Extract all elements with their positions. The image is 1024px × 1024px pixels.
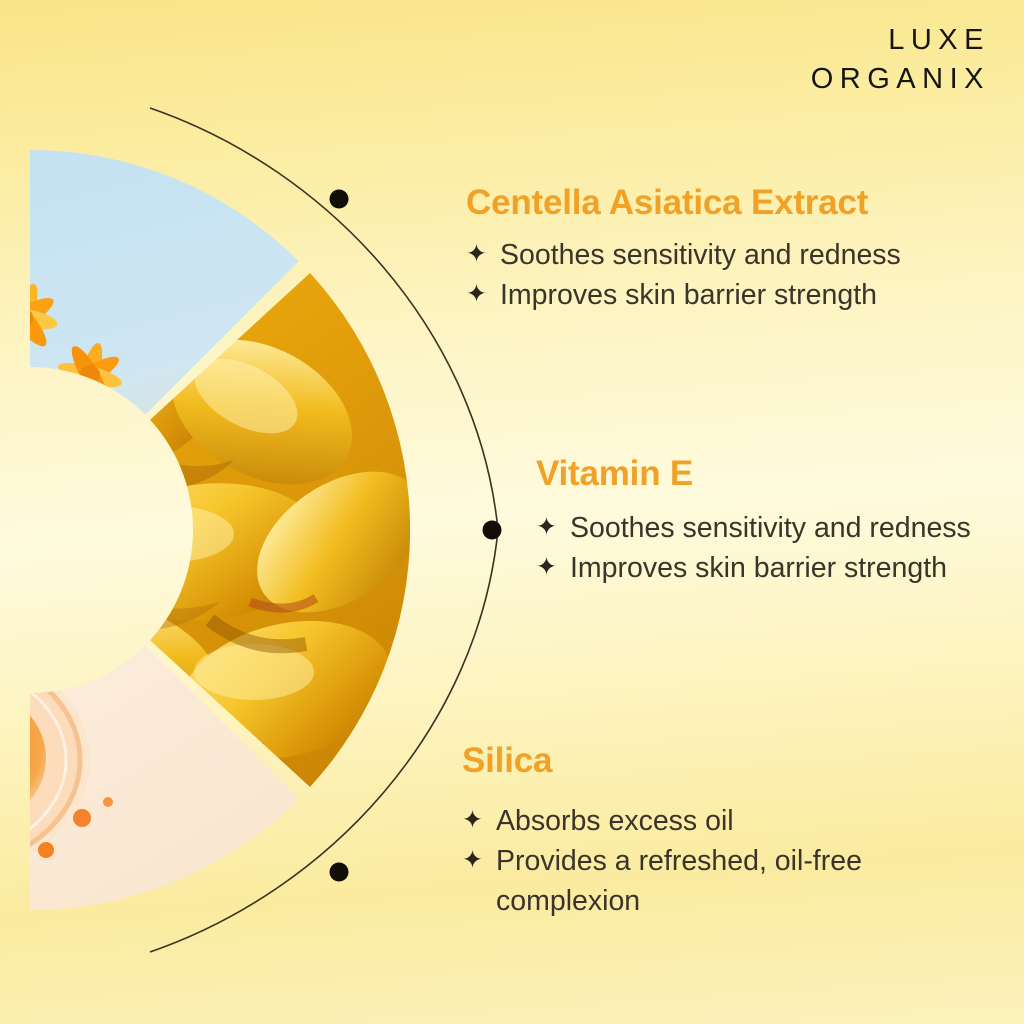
ingredient-block-centella: Centella Asiatica Extract ✦ Soothes sens… <box>466 184 986 315</box>
ingredient-title-silica: Silica <box>462 742 962 781</box>
connector-arc <box>150 108 498 952</box>
list-item: ✦ Improves skin barrier strength <box>536 548 1024 588</box>
list-item: ✦ Soothes sensitivity and redness <box>536 508 1024 548</box>
list-item: ✦ Improves skin barrier strength <box>466 275 986 315</box>
ingredient-benefits-centella: ✦ Soothes sensitivity and redness ✦ Impr… <box>466 235 986 316</box>
sparkle-icon: ✦ <box>536 548 563 586</box>
benefit-text: Soothes sensitivity and redness <box>500 235 986 275</box>
ingredient-benefits-vitamin-e: ✦ Soothes sensitivity and redness ✦ Impr… <box>536 508 1024 589</box>
sparkle-icon: ✦ <box>462 841 489 879</box>
list-item: ✦ Absorbs excess oil <box>462 801 962 841</box>
list-item: ✦ Soothes sensitivity and redness <box>466 235 986 275</box>
ingredient-block-silica: Silica ✦ Absorbs excess oil ✦ Provides a… <box>462 742 962 922</box>
benefit-text: Improves skin barrier strength <box>500 275 986 315</box>
brand-line-2: ORGANIX <box>811 61 990 98</box>
brand-logo: LUXE ORGANIX <box>811 22 990 98</box>
brand-line-1: LUXE <box>811 22 990 59</box>
list-item: ✦ Provides a refreshed, oil-free complex… <box>462 841 962 922</box>
sparkle-icon: ✦ <box>462 801 489 839</box>
ingredient-block-vitamin-e: Vitamin E ✦ Soothes sensitivity and redn… <box>536 455 1024 588</box>
ingredient-benefits-silica: ✦ Absorbs excess oil ✦ Provides a refres… <box>462 801 962 922</box>
node-vitamin-e[interactable] <box>483 521 502 540</box>
ingredient-title-centella: Centella Asiatica Extract <box>466 184 986 223</box>
ingredient-title-vitamin-e: Vitamin E <box>536 455 1024 494</box>
benefit-text: Absorbs excess oil <box>496 801 962 841</box>
sparkle-icon: ✦ <box>536 508 563 546</box>
ingredient-infographic-poster: LUXE ORGANIX Centella Asiatica Extract ✦… <box>0 0 1024 1024</box>
benefit-text: Provides a refreshed, oil-free complexio… <box>496 841 962 922</box>
sparkle-icon: ✦ <box>466 235 493 273</box>
sparkle-icon: ✦ <box>466 275 493 313</box>
benefit-text: Soothes sensitivity and redness <box>570 508 1024 548</box>
benefit-text: Improves skin barrier strength <box>570 548 1024 588</box>
node-centella[interactable] <box>330 190 349 209</box>
node-silica[interactable] <box>330 863 349 882</box>
